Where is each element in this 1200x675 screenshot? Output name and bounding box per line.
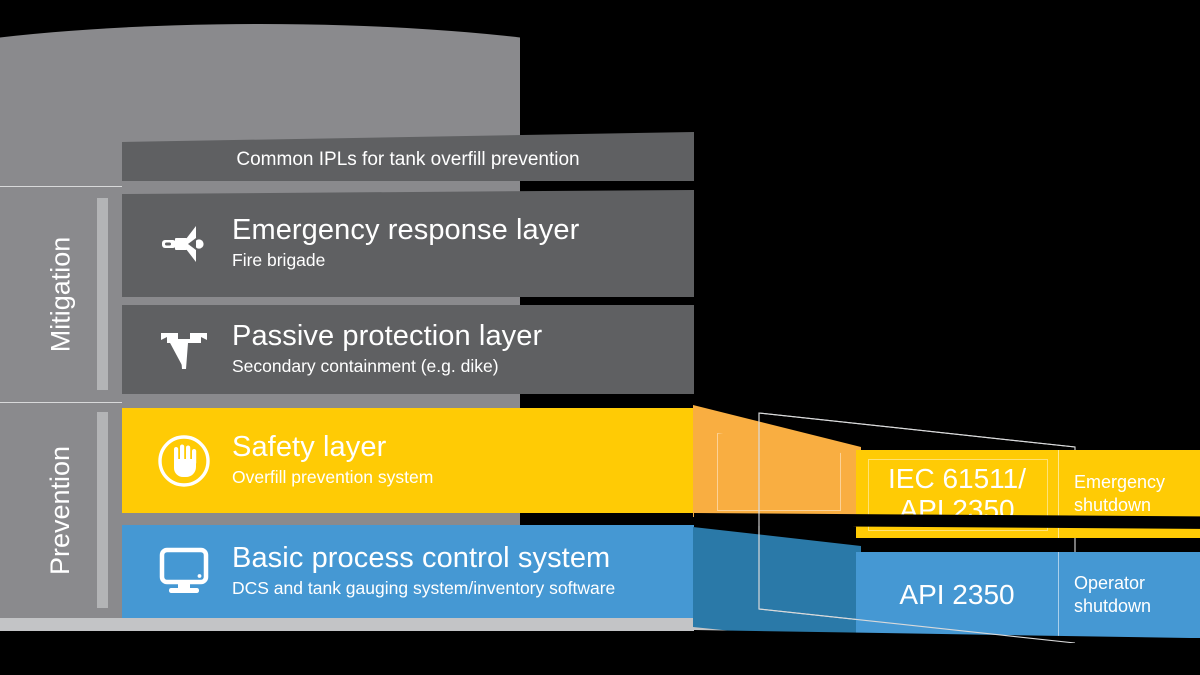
- layer-title: Safety layer: [232, 432, 433, 463]
- layer-passive-protection[interactable]: Passive protection layer Secondary conta…: [122, 305, 694, 394]
- action-line-1: Emergency: [1074, 471, 1165, 494]
- dike-v-icon: [148, 305, 220, 394]
- axis-group-mitigation: Mitigation: [0, 186, 122, 402]
- diagram-canvas: Mitigation Prevention Common IPLs for ta…: [0, 0, 1200, 675]
- layer-basic-process-control[interactable]: Basic process control system DCS and tan…: [122, 525, 694, 618]
- layer-title: Basic process control system: [232, 543, 615, 574]
- top-right-mask2: [694, 0, 754, 400]
- action-line-2: shutdown: [1074, 494, 1165, 517]
- standard-card-bpcs-action: Operator shutdown: [1058, 552, 1200, 638]
- arrow-prevention-icon: [97, 412, 108, 608]
- layer-safety-text: Safety layer Overfill prevention system: [232, 408, 433, 513]
- action-line-2: shutdown: [1074, 595, 1151, 618]
- perspective-guide-box-front: [757, 411, 1073, 637]
- monitor-icon: [148, 525, 220, 618]
- action-line-1: Operator: [1074, 572, 1151, 595]
- layer-emergency-response[interactable]: Emergency response layer Fire brigade: [122, 190, 694, 297]
- layer-emergency-response-text: Emergency response layer Fire brigade: [232, 190, 579, 297]
- layer-subtitle: Fire brigade: [232, 250, 579, 272]
- axis-group-prevention: Prevention: [0, 402, 122, 618]
- layer-title: Emergency response layer: [232, 215, 579, 246]
- layer-safety[interactable]: Safety layer Overfill prevention system: [122, 408, 694, 513]
- axis-groups: Mitigation Prevention: [0, 186, 122, 618]
- layer-title: Passive protection layer: [232, 321, 542, 352]
- layer-passive-protection-text: Passive protection layer Secondary conta…: [232, 305, 542, 394]
- arrow-mitigation-icon: [97, 198, 108, 390]
- top-right-mask: [745, 0, 1200, 400]
- layer-subtitle: Overfill prevention system: [232, 467, 433, 489]
- stop-hand-icon: [148, 408, 220, 513]
- base-strip: [0, 618, 745, 631]
- layer-subtitle: DCS and tank gauging system/inventory so…: [232, 578, 615, 600]
- megaphone-icon: [148, 190, 220, 297]
- axis-label-prevention-text: Prevention: [46, 445, 77, 574]
- layer-basic-process-control-text: Basic process control system DCS and tan…: [232, 525, 615, 618]
- axis-label-mitigation-text: Mitigation: [46, 236, 77, 352]
- layer-subtitle: Secondary containment (e.g. dike): [232, 356, 542, 378]
